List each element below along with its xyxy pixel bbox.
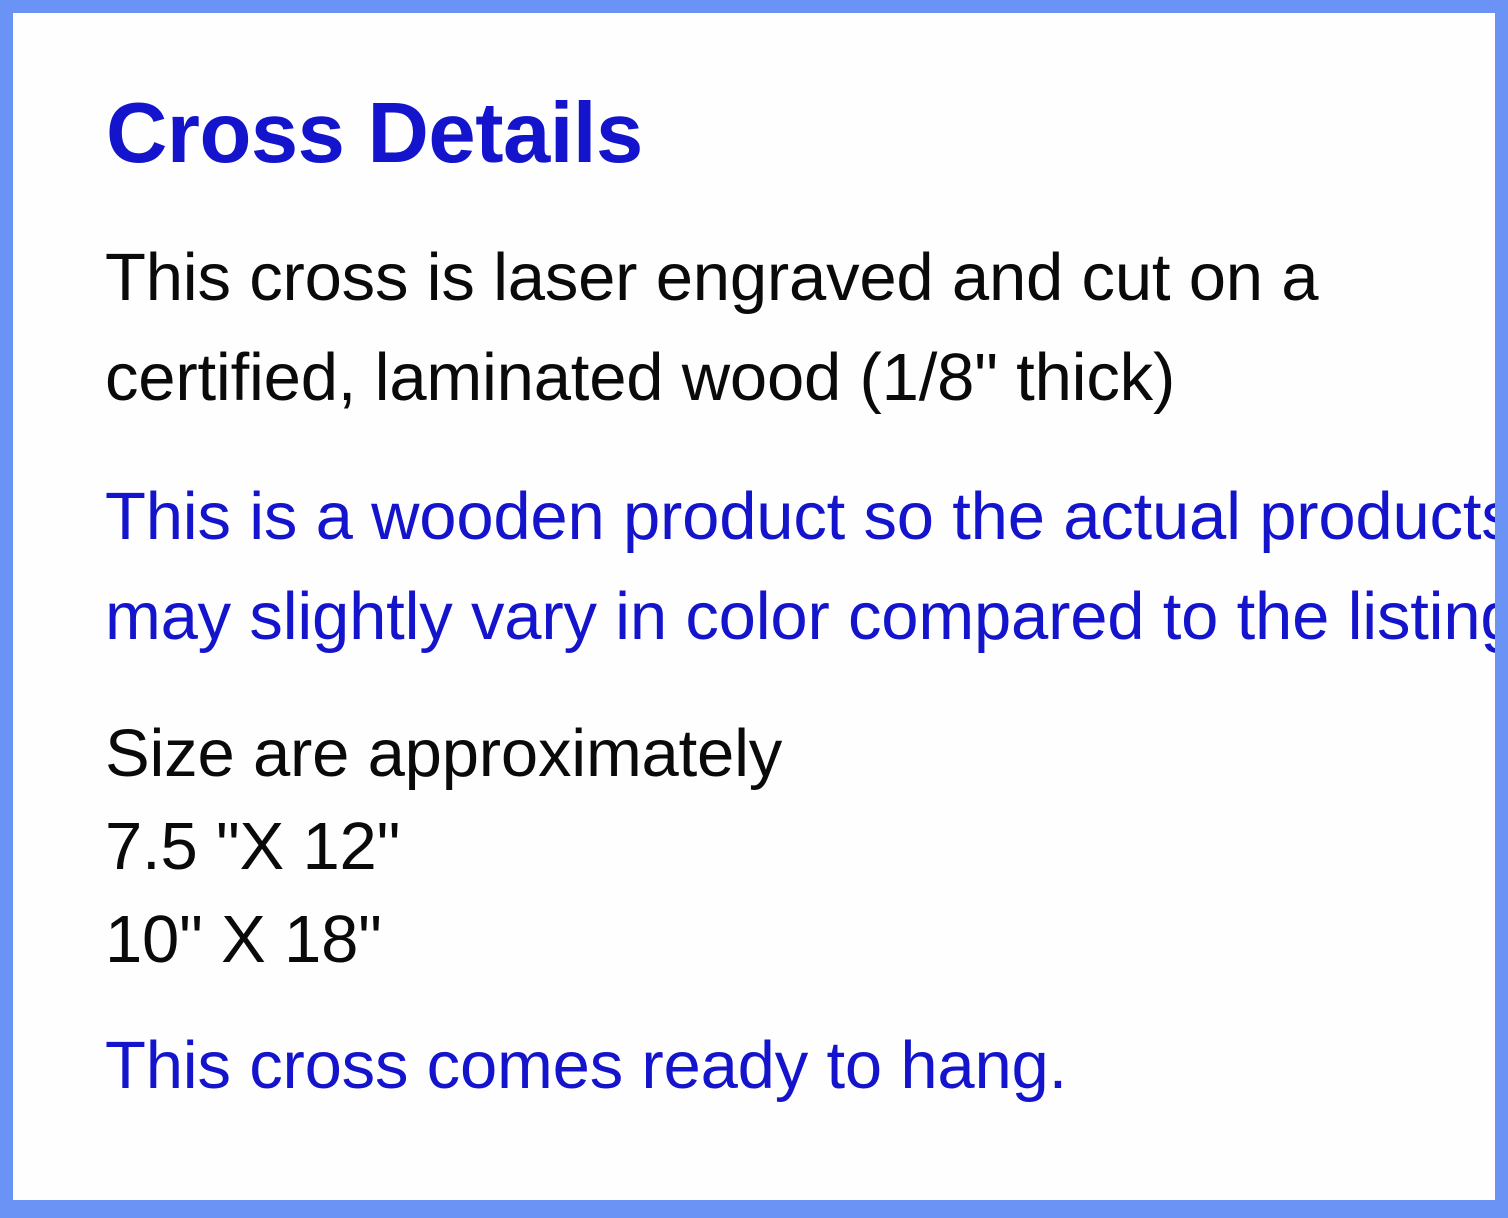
paragraph-variation-line-2: may slightly vary in color compared to t… xyxy=(105,579,1495,654)
card-content: Cross Details This cross is laser engrav… xyxy=(105,91,1477,1116)
size-option-2: 10" X 18" xyxy=(105,893,1477,986)
paragraph-variation-notice: This is a wooden product so the actual p… xyxy=(105,467,1477,667)
cross-details-card: Cross Details This cross is laser engrav… xyxy=(0,0,1508,1218)
card-inner-panel: Cross Details This cross is laser engrav… xyxy=(13,13,1495,1200)
spacer-before-sizes xyxy=(105,667,1477,707)
size-block: Size are approximately 7.5 "X 12" 10" X … xyxy=(105,707,1477,986)
size-option-1: 7.5 "X 12" xyxy=(105,800,1477,893)
hanging-note-text: This cross comes ready to hang. xyxy=(105,1028,1067,1103)
hanging-note: This cross comes ready to hang. xyxy=(105,1016,1477,1116)
paragraph-material-line-1: This cross is laser engraved and cut on … xyxy=(105,240,1318,315)
spacer-before-hanging-note xyxy=(105,986,1477,1016)
paragraph-material: This cross is laser engraved and cut on … xyxy=(105,228,1477,428)
spacer-between-paragraphs xyxy=(105,428,1477,467)
page-title: Cross Details xyxy=(105,91,1477,176)
size-heading: Size are approximately xyxy=(105,707,1477,800)
spacer-after-title xyxy=(105,176,1477,228)
paragraph-material-line-2: certified, laminated wood (1/8" thick) xyxy=(105,340,1175,415)
paragraph-variation-line-1: This is a wooden product so the actual p… xyxy=(105,479,1495,554)
